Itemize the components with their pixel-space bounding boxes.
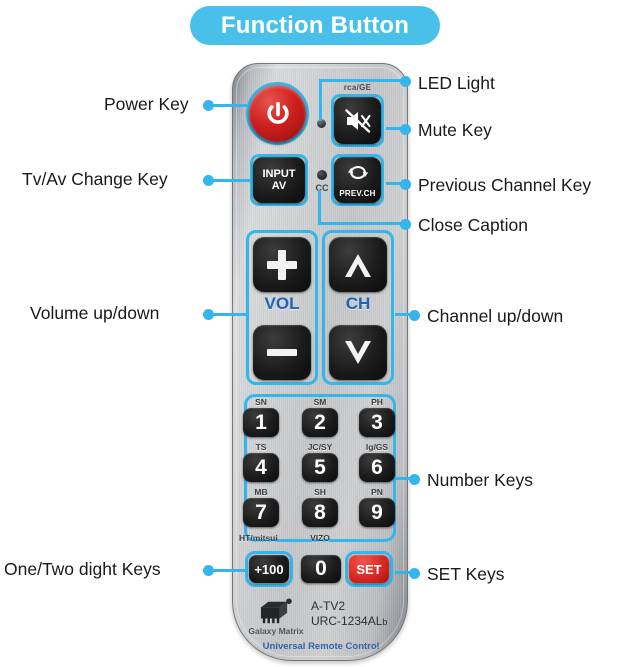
number-key-9[interactable]: 9 bbox=[359, 498, 395, 527]
callout-channel-up-down: Channel up/down bbox=[427, 306, 563, 327]
number-key-0[interactable]: 0 bbox=[301, 555, 341, 583]
numkey-sublabel: SH bbox=[300, 487, 340, 497]
number-key-4[interactable]: 4 bbox=[243, 453, 279, 482]
leader-dot bbox=[409, 474, 420, 485]
numkey-sublabel: PN bbox=[357, 487, 397, 497]
numkey-sublabel: lg/GS bbox=[357, 442, 397, 452]
mute-speaker-icon bbox=[344, 108, 372, 134]
callout-mute-key: Mute Key bbox=[418, 120, 492, 141]
power-key[interactable] bbox=[249, 85, 306, 142]
callout-one-two-digit-keys: One/Two dight Keys bbox=[4, 559, 161, 580]
leader-line bbox=[211, 104, 247, 107]
leader-line-vertical bbox=[319, 80, 322, 121]
numkey-sublabel: SM bbox=[300, 397, 340, 407]
brand-tagline: Universal Remote Control bbox=[233, 641, 409, 652]
recycle-arrows-icon bbox=[347, 164, 369, 181]
leader-dot bbox=[400, 219, 411, 230]
number-key-2[interactable]: 2 bbox=[302, 408, 338, 437]
channel-down-key[interactable] bbox=[329, 325, 387, 380]
leader-line bbox=[211, 179, 251, 182]
model-code-main: URC-1234AL bbox=[311, 614, 382, 628]
numkey-sublabel: VIZO bbox=[300, 533, 340, 543]
leader-dot bbox=[409, 568, 420, 579]
leader-line-vertical bbox=[318, 190, 321, 224]
remote-control-body: rca/GE INPUT AV CC bbox=[232, 63, 408, 661]
mute-key[interactable] bbox=[334, 97, 381, 144]
input-av-key[interactable]: INPUT AV bbox=[253, 157, 305, 203]
set-key[interactable]: SET bbox=[349, 555, 389, 583]
number-key-7[interactable]: 7 bbox=[243, 498, 279, 527]
chevron-down-icon bbox=[341, 338, 375, 368]
numkey-sublabel: MB bbox=[241, 487, 281, 497]
plus-icon bbox=[267, 250, 297, 280]
volume-down-key[interactable] bbox=[253, 325, 311, 380]
numkey-sublabel: HT/mitsui bbox=[239, 533, 293, 543]
callout-tv-av-change-key: Tv/Av Change Key bbox=[22, 169, 168, 190]
prev-channel-key[interactable]: PREV.CH bbox=[334, 157, 381, 203]
minus-icon bbox=[267, 338, 297, 368]
model-name: A-TV2 bbox=[311, 599, 403, 613]
model-code: URC-1234ALb bbox=[311, 614, 403, 628]
chevron-up-icon bbox=[341, 250, 375, 280]
rca-ge-label: rca/GE bbox=[334, 83, 381, 92]
prev-channel-label: PREV.CH bbox=[334, 189, 381, 198]
leader-dot bbox=[400, 76, 411, 87]
callout-power-key: Power Key bbox=[104, 94, 189, 115]
brand-name: Galaxy Matrix bbox=[245, 626, 307, 636]
numkey-sublabel: TS bbox=[241, 442, 281, 452]
plus-100-key[interactable]: +100 bbox=[249, 555, 289, 583]
leader-line bbox=[211, 313, 247, 316]
input-av-line1: INPUT bbox=[263, 168, 296, 180]
cc-label: CC bbox=[309, 183, 335, 193]
close-caption-indicator bbox=[317, 170, 327, 180]
leader-line bbox=[318, 222, 405, 225]
callout-number-keys: Number Keys bbox=[427, 470, 533, 491]
input-av-line2: AV bbox=[263, 180, 296, 192]
leader-line bbox=[211, 569, 247, 572]
numkey-sublabel: PH bbox=[357, 397, 397, 407]
model-code-suffix: b bbox=[382, 617, 387, 627]
callout-led-light: LED Light bbox=[418, 73, 495, 94]
volume-up-key[interactable] bbox=[253, 237, 311, 292]
galaxy-matrix-logo-icon bbox=[255, 598, 293, 626]
leader-dot bbox=[400, 179, 411, 190]
number-key-6[interactable]: 6 bbox=[359, 453, 395, 482]
page-title: Function Button bbox=[190, 6, 440, 45]
numkey-sublabel: SN bbox=[241, 397, 281, 407]
callout-set-keys: SET Keys bbox=[427, 564, 505, 585]
leader-dot bbox=[409, 310, 420, 321]
branding-block: Galaxy Matrix A-TV2 URC-1234ALb Universa… bbox=[233, 596, 409, 636]
number-key-1[interactable]: 1 bbox=[243, 408, 279, 437]
numkey-sublabel: JC/SY bbox=[300, 442, 340, 452]
power-icon bbox=[264, 100, 292, 128]
channel-label: CH bbox=[329, 294, 387, 314]
volume-label: VOL bbox=[253, 294, 311, 314]
callout-volume-up-down: Volume up/down bbox=[30, 303, 159, 324]
number-key-8[interactable]: 8 bbox=[302, 498, 338, 527]
channel-up-key[interactable] bbox=[329, 237, 387, 292]
leader-line bbox=[319, 79, 403, 82]
callout-close-caption: Close Caption bbox=[418, 215, 528, 236]
number-key-5[interactable]: 5 bbox=[302, 453, 338, 482]
infographic-canvas: Function Button rca/GE bbox=[0, 0, 640, 667]
number-key-3[interactable]: 3 bbox=[359, 408, 395, 437]
callout-previous-channel-key: Previous Channel Key bbox=[418, 175, 591, 196]
leader-dot bbox=[400, 124, 411, 135]
